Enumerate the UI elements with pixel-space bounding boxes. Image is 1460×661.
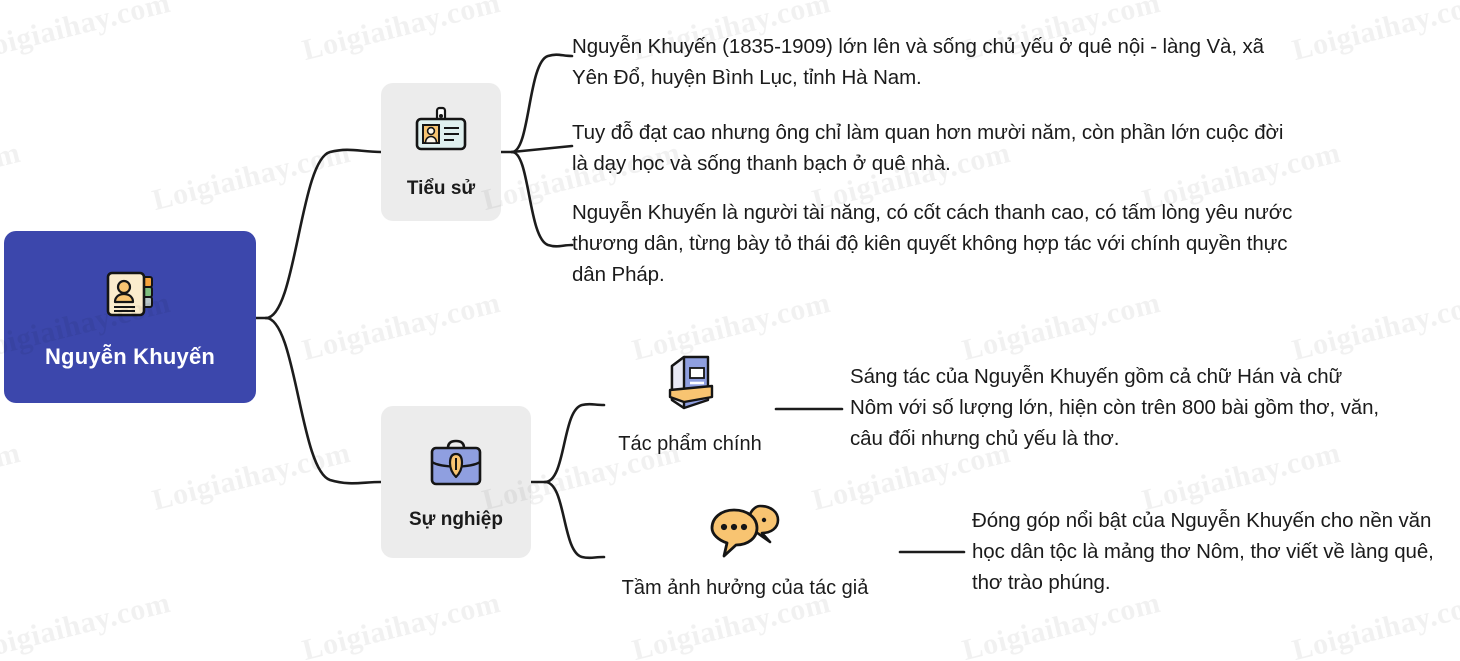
leaf-node-tam-anh-huong-label: Tầm ảnh hưởng của tác giả (622, 577, 869, 600)
text-block-bio-1: Nguyễn Khuyến (1835-1909) lớn lên và sốn… (572, 31, 1302, 93)
leaf-node-tam-anh-huong[interactable]: Tầm ảnh hưởng của tác giả (590, 502, 900, 600)
root-node-label: Nguyễn Khuyến (45, 344, 215, 370)
chat-bubbles-icon (708, 502, 782, 563)
text-block-bio-3: Nguyễn Khuyến là người tài năng, có cốt … (572, 197, 1302, 290)
id-badge-icon (413, 105, 469, 166)
connector-tieu-su-to-bio-3 (512, 152, 572, 246)
text-block-career-1: Sáng tác của Nguyễn Khuyến gồm cả chữ Há… (850, 361, 1390, 454)
leaf-node-tac-pham-chinh[interactable]: Tác phẩm chính (600, 352, 780, 456)
book-icon (658, 352, 722, 419)
branch-node-su-nghiep-label: Sự nghiệp (409, 509, 503, 531)
connector-tieu-su-to-bio-1 (512, 55, 572, 152)
root-node-nguyen-khuyen[interactable]: Nguyễn Khuyến (4, 231, 256, 403)
leaf-node-tac-pham-chinh-label: Tác phẩm chính (618, 433, 761, 456)
mindmap-canvas: Loigiaihay.comLoigiaihay.comLoigiaihay.c… (0, 0, 1460, 661)
text-block-bio-2: Tuy đỗ đạt cao nhưng ông chỉ làm quan hơ… (572, 117, 1302, 179)
text-block-career-2: Đóng góp nổi bật của Nguyễn Khuyến cho n… (972, 505, 1442, 598)
connector-root-to-su-nghiep (266, 318, 381, 483)
branch-node-tieu-su[interactable]: Tiểu sử (381, 83, 501, 221)
connector-root-to-tieu-su (266, 150, 381, 318)
branch-node-tieu-su-label: Tiểu sử (407, 178, 475, 200)
branch-node-su-nghiep[interactable]: Sự nghiệp (381, 406, 531, 558)
connector-tieu-su-to-bio-2 (512, 146, 572, 152)
contact-book-icon (101, 265, 159, 328)
briefcase-icon (427, 434, 485, 497)
connector-su-nghiep-to-tac-pham (545, 404, 604, 482)
